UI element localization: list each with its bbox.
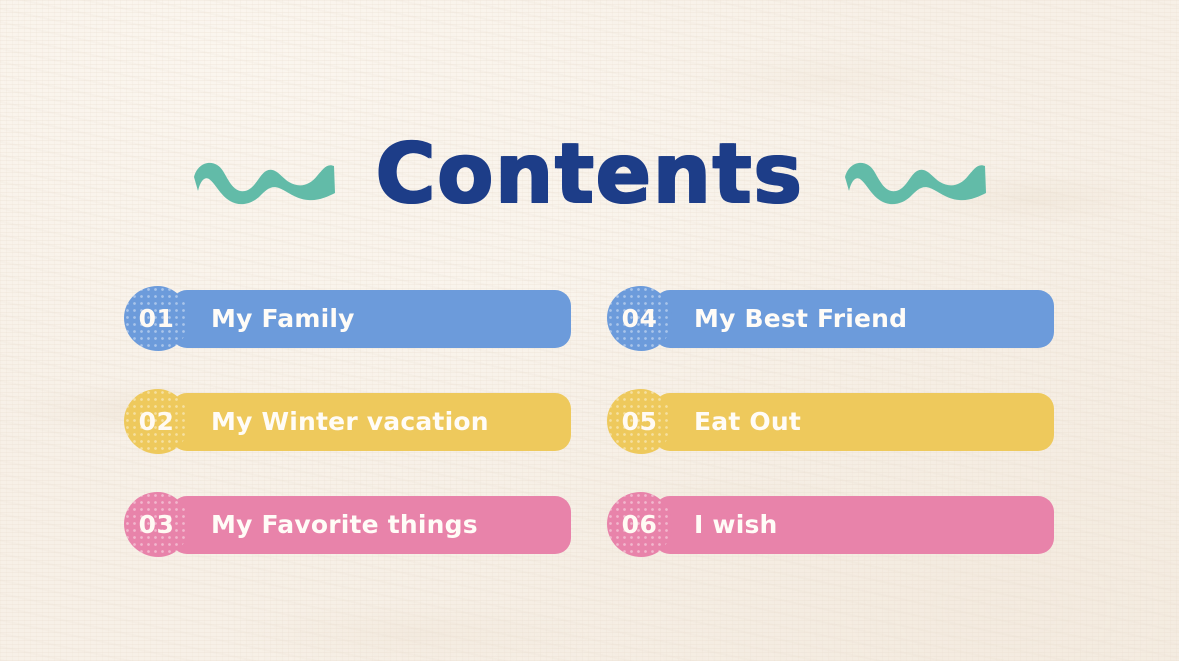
content-label-04: My Best Friend bbox=[694, 304, 907, 333]
number-badge-02: 02 bbox=[124, 389, 189, 454]
content-bar-04[interactable]: My Best Friend bbox=[654, 290, 1054, 348]
contents-list: 01 My Family 04 My Best Friend 02 My Win… bbox=[124, 286, 1054, 557]
number-badge-05: 05 bbox=[607, 389, 672, 454]
number-badge-03: 03 bbox=[124, 492, 189, 557]
content-label-01: My Family bbox=[211, 304, 355, 333]
content-bar-06[interactable]: I wish bbox=[654, 496, 1054, 554]
squiggle-right-icon bbox=[840, 147, 990, 209]
content-bar-02[interactable]: My Winter vacation bbox=[171, 393, 571, 451]
content-label-03: My Favorite things bbox=[211, 510, 478, 539]
number-label-05: 05 bbox=[622, 407, 658, 436]
number-label-03: 03 bbox=[139, 510, 175, 539]
contents-item-06[interactable]: 06 I wish bbox=[607, 492, 1054, 557]
contents-item-02[interactable]: 02 My Winter vacation bbox=[124, 389, 571, 454]
number-label-06: 06 bbox=[622, 510, 658, 539]
number-label-01: 01 bbox=[139, 304, 175, 333]
number-badge-06: 06 bbox=[607, 492, 672, 557]
squiggle-left-icon bbox=[189, 147, 339, 209]
content-bar-03[interactable]: My Favorite things bbox=[171, 496, 571, 554]
number-label-04: 04 bbox=[622, 304, 658, 333]
number-badge-01: 01 bbox=[124, 286, 189, 351]
number-label-02: 02 bbox=[139, 407, 175, 436]
contents-item-01[interactable]: 01 My Family bbox=[124, 286, 571, 351]
content-label-05: Eat Out bbox=[694, 407, 801, 436]
contents-item-04[interactable]: 04 My Best Friend bbox=[607, 286, 1054, 351]
number-badge-04: 04 bbox=[607, 286, 672, 351]
content-label-06: I wish bbox=[694, 510, 778, 539]
content-bar-05[interactable]: Eat Out bbox=[654, 393, 1054, 451]
contents-item-05[interactable]: 05 Eat Out bbox=[607, 389, 1054, 454]
content-bar-01[interactable]: My Family bbox=[171, 290, 571, 348]
page-title: Contents bbox=[375, 134, 803, 222]
contents-item-03[interactable]: 03 My Favorite things bbox=[124, 492, 571, 557]
slide-canvas: Contents 01 My Family 04 My Best Friend bbox=[0, 0, 1179, 661]
slide-header: Contents bbox=[0, 124, 1179, 232]
content-label-02: My Winter vacation bbox=[211, 407, 489, 436]
